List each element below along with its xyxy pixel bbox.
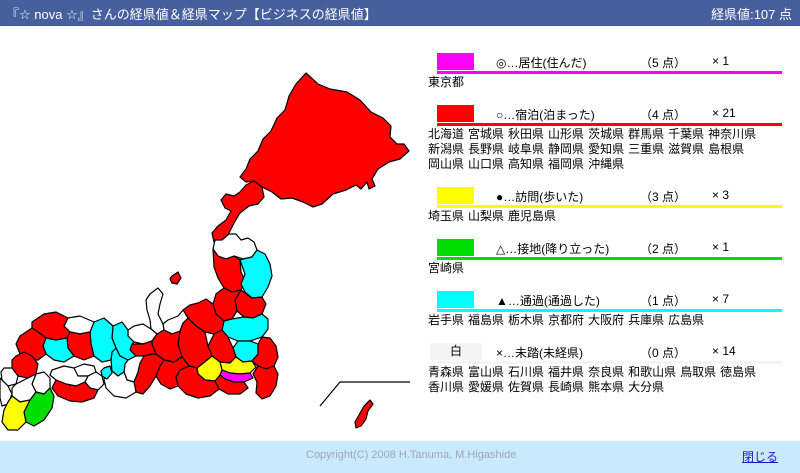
prefecture-name: 沖縄県 [588,157,624,171]
prefecture-name: 大阪府 [588,313,624,327]
legend-prefectures-visited: 埼玉県山梨県鹿児島県 [424,207,788,224]
legend-count-visited: × 3 [712,188,729,202]
legend-group-visited: ●…訪問(歩いた) （3 点） × 3 埼玉県山梨県鹿児島県 [424,186,800,224]
legend-points-residence: （5 点） [640,54,686,71]
legend-swatch-visited [437,187,474,204]
legend-swatch-unvisited: 白 [430,343,482,360]
prefecture-name: 新潟県 [428,142,464,156]
legend-rule-residence [437,71,782,74]
prefecture-name: 富山県 [468,365,504,379]
window-title-bar: 『☆ nova ☆』さんの経県値＆経県マップ【ビジネスの経県値】 経県値:107… [0,0,800,26]
prefecture-name: 京都府 [548,313,584,327]
pref-hokkaido[interactable] [240,73,409,207]
legend-rule-stayed [437,123,782,126]
legend-prefectures-touched: 宮崎県 [424,259,788,276]
legend-symbol-unvisited: ×…未踏(未経県) [496,344,583,361]
prefecture-name: 千葉県 [668,127,704,141]
prefecture-name: 兵庫県 [628,313,664,327]
legend-points-stayed: （4 点） [640,106,686,123]
legend-group-touched: △…接地(降り立った) （2 点） × 1 宮崎県 [424,238,800,276]
prefecture-name: 長野県 [468,142,504,156]
prefecture-name: 奈良県 [588,365,624,379]
prefecture-name: 栃木県 [508,313,544,327]
legend-rule-passed [437,309,782,312]
legend-points-unvisited: （0 点） [640,344,686,361]
copyright-text: Copyright(C) 2008 H.Tanuma, M.Higashide [306,449,516,461]
prefecture-name: 宮崎県 [428,261,464,275]
prefecture-name: 福井県 [548,365,584,379]
prefecture-name: 山形県 [548,127,584,141]
legend-points-passed: （1 点） [640,292,686,309]
legend-swatch-passed [437,291,474,308]
legend-rule-visited [437,205,782,208]
footer-bar: Copyright(C) 2008 H.Tanuma, M.Higashide … [0,441,800,473]
legend-header: ◎…居住(住んだ) （5 点） × 1 [424,52,800,73]
legend-symbol-touched: △…接地(降り立った) [496,240,609,257]
pref-okinawa[interactable] [355,400,373,428]
prefecture-name: 岩手県 [428,313,464,327]
prefecture-name: 青森県 [428,365,464,379]
legend-swatch-stayed [437,105,474,122]
prefecture-name: 福岡県 [548,157,584,171]
prefecture-name: 山梨県 [468,209,504,223]
legend-header: ●…訪問(歩いた) （3 点） × 3 [424,186,800,207]
prefecture-name: 広島県 [668,313,704,327]
prefecture-name: 神奈川県 [708,127,756,141]
legend-header: 白 ×…未踏(未経県) （0 点） × 14 [424,342,800,363]
japan-map-svg[interactable] [0,26,420,438]
legend-points-touched: （2 点） [640,240,686,257]
legend-swatch-residence [437,53,474,70]
legend-symbol-residence: ◎…居住(住んだ) [496,54,586,71]
prefecture-name: 群馬県 [628,127,664,141]
legend-group-residence: ◎…居住(住んだ) （5 点） × 1 東京都 [424,52,800,90]
prefecture-name: 北海道 [428,127,464,141]
legend-swatch-touched [437,239,474,256]
close-link[interactable]: 閉じる [742,448,778,465]
prefecture-name: 鳥取県 [680,365,716,379]
legend-prefectures-stayed: 北海道宮城県秋田県山形県茨城県群馬県千葉県神奈川県新潟県長野県岐阜県静岡県愛知県… [424,125,788,172]
score-badge: 経県値:107 点 [711,4,792,23]
prefecture-name: 鹿児島県 [508,209,556,223]
prefecture-name: 長崎県 [548,380,584,394]
japan-map-panel[interactable] [0,26,420,438]
legend-points-visited: （3 点） [640,188,686,205]
legend-rule-touched [437,257,782,260]
legend-count-unvisited: × 14 [712,344,736,358]
prefecture-name: 高知県 [508,157,544,171]
legend-header: ○…宿泊(泊まった) （4 点） × 21 [424,104,800,125]
prefecture-name: 静岡県 [548,142,584,156]
prefecture-name: 宮城県 [468,127,504,141]
prefecture-name: 秋田県 [508,127,544,141]
prefecture-name: 滋賀県 [668,142,704,156]
legend-prefectures-passed: 岩手県福島県栃木県京都府大阪府兵庫県広島県 [424,311,788,328]
pref-chiba[interactable] [253,366,278,399]
prefecture-name: 愛媛県 [468,380,504,394]
legend-rule-unvisited [437,361,782,364]
prefecture-name: 香川県 [428,380,464,394]
legend-group-unvisited: 白 ×…未踏(未経県) （0 点） × 14 青森県富山県石川県福井県奈良県和歌… [424,342,800,395]
legend-panel: ◎…居住(住んだ) （5 点） × 1 東京都 ○…宿泊(泊まった) （4 点）… [424,26,800,438]
legend-header: △…接地(降り立った) （2 点） × 1 [424,238,800,259]
prefecture-name: 山口県 [468,157,504,171]
prefecture-name: 岐阜県 [508,142,544,156]
prefecture-name: 愛知県 [588,142,624,156]
legend-header: ▲…通過(通過した) （1 点） × 7 [424,290,800,311]
legend-count-residence: × 1 [712,54,729,68]
legend-symbol-visited: ●…訪問(歩いた) [496,188,583,205]
pref-niigata-sado[interactable] [170,272,181,284]
prefecture-name: 三重県 [628,142,664,156]
legend-group-stayed: ○…宿泊(泊まった) （4 点） × 21 北海道宮城県秋田県山形県茨城県群馬県… [424,104,800,172]
prefecture-name: 福島県 [468,313,504,327]
legend-group-passed: ▲…通過(通過した) （1 点） × 7 岩手県福島県栃木県京都府大阪府兵庫県広… [424,290,800,328]
prefecture-name: 大分県 [628,380,664,394]
prefecture-name: 和歌山県 [628,365,676,379]
prefecture-name: 徳島県 [720,365,756,379]
page-title: 『☆ nova ☆』さんの経県値＆経県マップ【ビジネスの経県値】 [6,4,377,23]
legend-symbol-passed: ▲…通過(通過した) [496,292,600,309]
prefecture-name: 茨城県 [588,127,624,141]
prefecture-name: 島根県 [708,142,744,156]
legend-prefectures-residence: 東京都 [424,73,788,90]
prefecture-name: 岡山県 [428,157,464,171]
legend-prefectures-unvisited: 青森県富山県石川県福井県奈良県和歌山県鳥取県徳島県香川県愛媛県佐賀県長崎県熊本県… [424,363,788,395]
prefecture-name: 石川県 [508,365,544,379]
okinawa-inset-divider [320,382,410,406]
prefecture-name: 熊本県 [588,380,624,394]
legend-count-passed: × 7 [712,292,729,306]
pref-hokkaido-oshima[interactable] [212,181,264,242]
legend-count-stayed: × 21 [712,106,736,120]
prefecture-name: 東京都 [428,75,464,89]
prefecture-name: 佐賀県 [508,380,544,394]
prefecture-name: 埼玉県 [428,209,464,223]
legend-symbol-stayed: ○…宿泊(泊まった) [496,106,595,123]
legend-count-touched: × 1 [712,240,729,254]
